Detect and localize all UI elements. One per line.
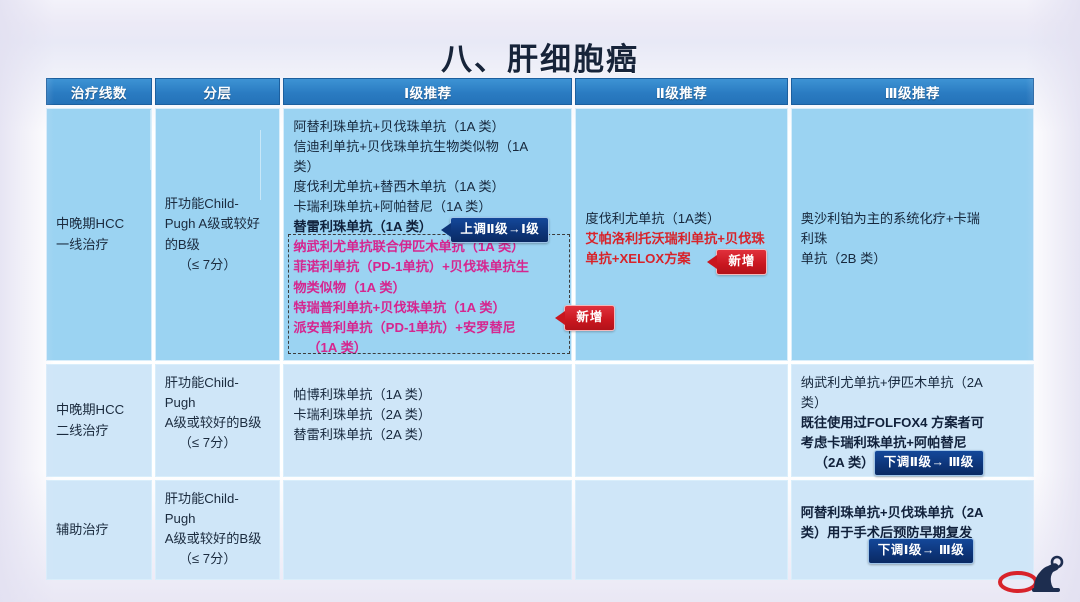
cell-stratification: 肝功能Child- Pugh A级或较好的B级 （≤ 7分） xyxy=(155,364,281,477)
treatment-line-label-2: 一线治疗 xyxy=(56,235,142,255)
stratification-line: 肝功能Child- xyxy=(165,489,271,509)
cell-stratification: 肝功能Child- Pugh A级或较好 的B级 （≤ 7分） xyxy=(155,108,281,361)
badge-new-level2: 新增 xyxy=(716,249,767,275)
stratification-line: Pugh xyxy=(165,509,271,529)
badge-pointer-icon xyxy=(555,311,565,325)
slide-root: 八、肝细胞癌 治疗线数 分层 Ⅰ级推荐 Ⅱ级推荐 Ⅲ级推荐 中晚期HCC 一线治… xyxy=(0,0,1080,602)
stratification-line: （≤ 7分） xyxy=(165,433,271,453)
column-header-level-1: Ⅰ级推荐 xyxy=(283,78,572,105)
column-header-treatment-line: 治疗线数 xyxy=(46,78,152,105)
recommendation-item: 卡瑞利珠单抗+阿帕替尼（1A 类） xyxy=(293,197,562,217)
cell-level-2-recommendation xyxy=(575,364,787,477)
column-header-level-2: Ⅱ级推荐 xyxy=(575,78,787,105)
treatment-line-label-2: 二线治疗 xyxy=(56,421,142,441)
recommendation-item-new: 菲诺利单抗（PD-1单抗）+贝伐珠单抗生 xyxy=(293,257,562,277)
table-header-row: 治疗线数 分层 Ⅰ级推荐 Ⅱ级推荐 Ⅲ级推荐 xyxy=(46,78,1034,105)
watermark-logo-icon xyxy=(996,552,1070,596)
stratification-line: A级或较好的B级 xyxy=(165,413,271,433)
badge-new-level1: 新增 xyxy=(564,305,615,331)
recommendation-item: 利珠 xyxy=(801,229,1024,249)
recommendation-item: 度伐利尤单抗+替西木单抗（1A 类） xyxy=(293,177,562,197)
treatment-line-label-1: 中晚期HCC xyxy=(56,400,142,420)
cell-treatment-line: 中晚期HCC 二线治疗 xyxy=(46,364,152,477)
treatment-line-label-1: 中晚期HCC xyxy=(56,214,142,234)
recommendation-table: 治疗线数 分层 Ⅰ级推荐 Ⅱ级推荐 Ⅲ级推荐 中晚期HCC 一线治疗 肝功能Ch… xyxy=(46,78,1034,580)
badge-pointer-icon xyxy=(441,223,451,237)
recommendation-item: 单抗（2B 类） xyxy=(801,249,1024,269)
recommendation-item-downgraded: 既往使用过FOLFOX4 方案者可 xyxy=(801,413,1024,433)
cell-treatment-line: 中晚期HCC 一线治疗 xyxy=(46,108,152,361)
cell-level-1-recommendation xyxy=(283,480,572,580)
stratification-line: 肝功能Child- xyxy=(165,373,271,393)
recommendation-item: 阿替利珠单抗+贝伐珠单抗（1A 类） xyxy=(293,117,562,137)
recommendation-item: 帕博利珠单抗（1A 类） xyxy=(293,385,562,405)
stratification-line: （≤ 7分） xyxy=(165,255,271,275)
stratification-line: 肝功能Child- xyxy=(165,194,271,214)
recommendation-item-new: 物类似物（1A 类） xyxy=(293,278,562,298)
recommendation-item: 类） xyxy=(801,393,1024,413)
stratification-line: Pugh xyxy=(165,393,271,413)
stratification-line: Pugh A级或较好 xyxy=(165,214,271,234)
cell-level-3-recommendation: 纳武利尤单抗+伊匹木单抗（2A 类） 既往使用过FOLFOX4 方案者可 考虑卡… xyxy=(791,364,1034,477)
page-title-wrap: 八、肝细胞癌 xyxy=(0,34,1080,79)
recommendation-item-new: 特瑞普利单抗+贝伐珠单抗（1A 类） xyxy=(293,298,562,318)
recommendation-item-new: 艾帕洛利托沃瑞利单抗+贝伐珠 xyxy=(585,229,777,249)
recommendation-item-new: 派安普利单抗（PD-1单抗）+安罗替尼 xyxy=(293,318,562,338)
stratification-line: A级或较好的B级 xyxy=(165,529,271,549)
table-row: 中晚期HCC 二线治疗 肝功能Child- Pugh A级或较好的B级 （≤ 7… xyxy=(46,364,1034,477)
column-header-stratification: 分层 xyxy=(155,78,281,105)
recommendation-item: 类） xyxy=(293,157,562,177)
recommendation-item: 卡瑞利珠单抗（2A 类） xyxy=(293,405,562,425)
recommendation-item: 信迪利单抗+贝伐珠单抗生物类似物（1A xyxy=(293,137,562,157)
table-row: 辅助治疗 肝功能Child- Pugh A级或较好的B级 （≤ 7分） 阿替利珠… xyxy=(46,480,1034,580)
treatment-line-label-1: 辅助治疗 xyxy=(56,520,142,540)
cell-stratification: 肝功能Child- Pugh A级或较好的B级 （≤ 7分） xyxy=(155,480,281,580)
cell-level-2-recommendation xyxy=(575,480,787,580)
cell-level-3-recommendation: 奥沙利铂为主的系统化疗+卡瑞 利珠 单抗（2B 类） xyxy=(791,108,1034,361)
recommendation-item: 纳武利尤单抗+伊匹木单抗（2A xyxy=(801,373,1024,393)
recommendation-item-new: （1A 类） xyxy=(293,338,562,358)
recommendation-item: 奥沙利铂为主的系统化疗+卡瑞 xyxy=(801,209,1024,229)
recommendation-item-downgraded: 阿替利珠单抗+贝伐珠单抗（2A xyxy=(801,503,1024,523)
badge-downgrade-level2-to-level3: 下调Ⅱ级→ Ⅲ级 xyxy=(874,450,984,476)
recommendation-item: 度伐利尤单抗（1A类） xyxy=(585,209,777,229)
cell-level-1-recommendation: 阿替利珠单抗+贝伐珠单抗（1A 类） 信迪利单抗+贝伐珠单抗生物类似物（1A 类… xyxy=(283,108,572,361)
stratification-line: （≤ 7分） xyxy=(165,549,271,569)
recommendation-item: 替雷利珠单抗（2A 类） xyxy=(293,425,562,445)
badge-downgrade-level1-to-level3: 下调Ⅰ级→ Ⅲ级 xyxy=(868,538,974,564)
badge-upgrade-level2-to-level1: 上调Ⅱ级→Ⅰ级 xyxy=(450,217,549,243)
page-title: 八、肝细胞癌 xyxy=(441,34,639,79)
table-row: 中晚期HCC 一线治疗 肝功能Child- Pugh A级或较好 的B级 （≤ … xyxy=(46,108,1034,361)
cell-level-1-recommendation: 帕博利珠单抗（1A 类） 卡瑞利珠单抗（2A 类） 替雷利珠单抗（2A 类） xyxy=(283,364,572,477)
badge-pointer-icon xyxy=(707,255,717,269)
cell-treatment-line: 辅助治疗 xyxy=(46,480,152,580)
stratification-line: 的B级 xyxy=(165,235,271,255)
column-header-level-3: Ⅲ级推荐 xyxy=(791,78,1034,105)
